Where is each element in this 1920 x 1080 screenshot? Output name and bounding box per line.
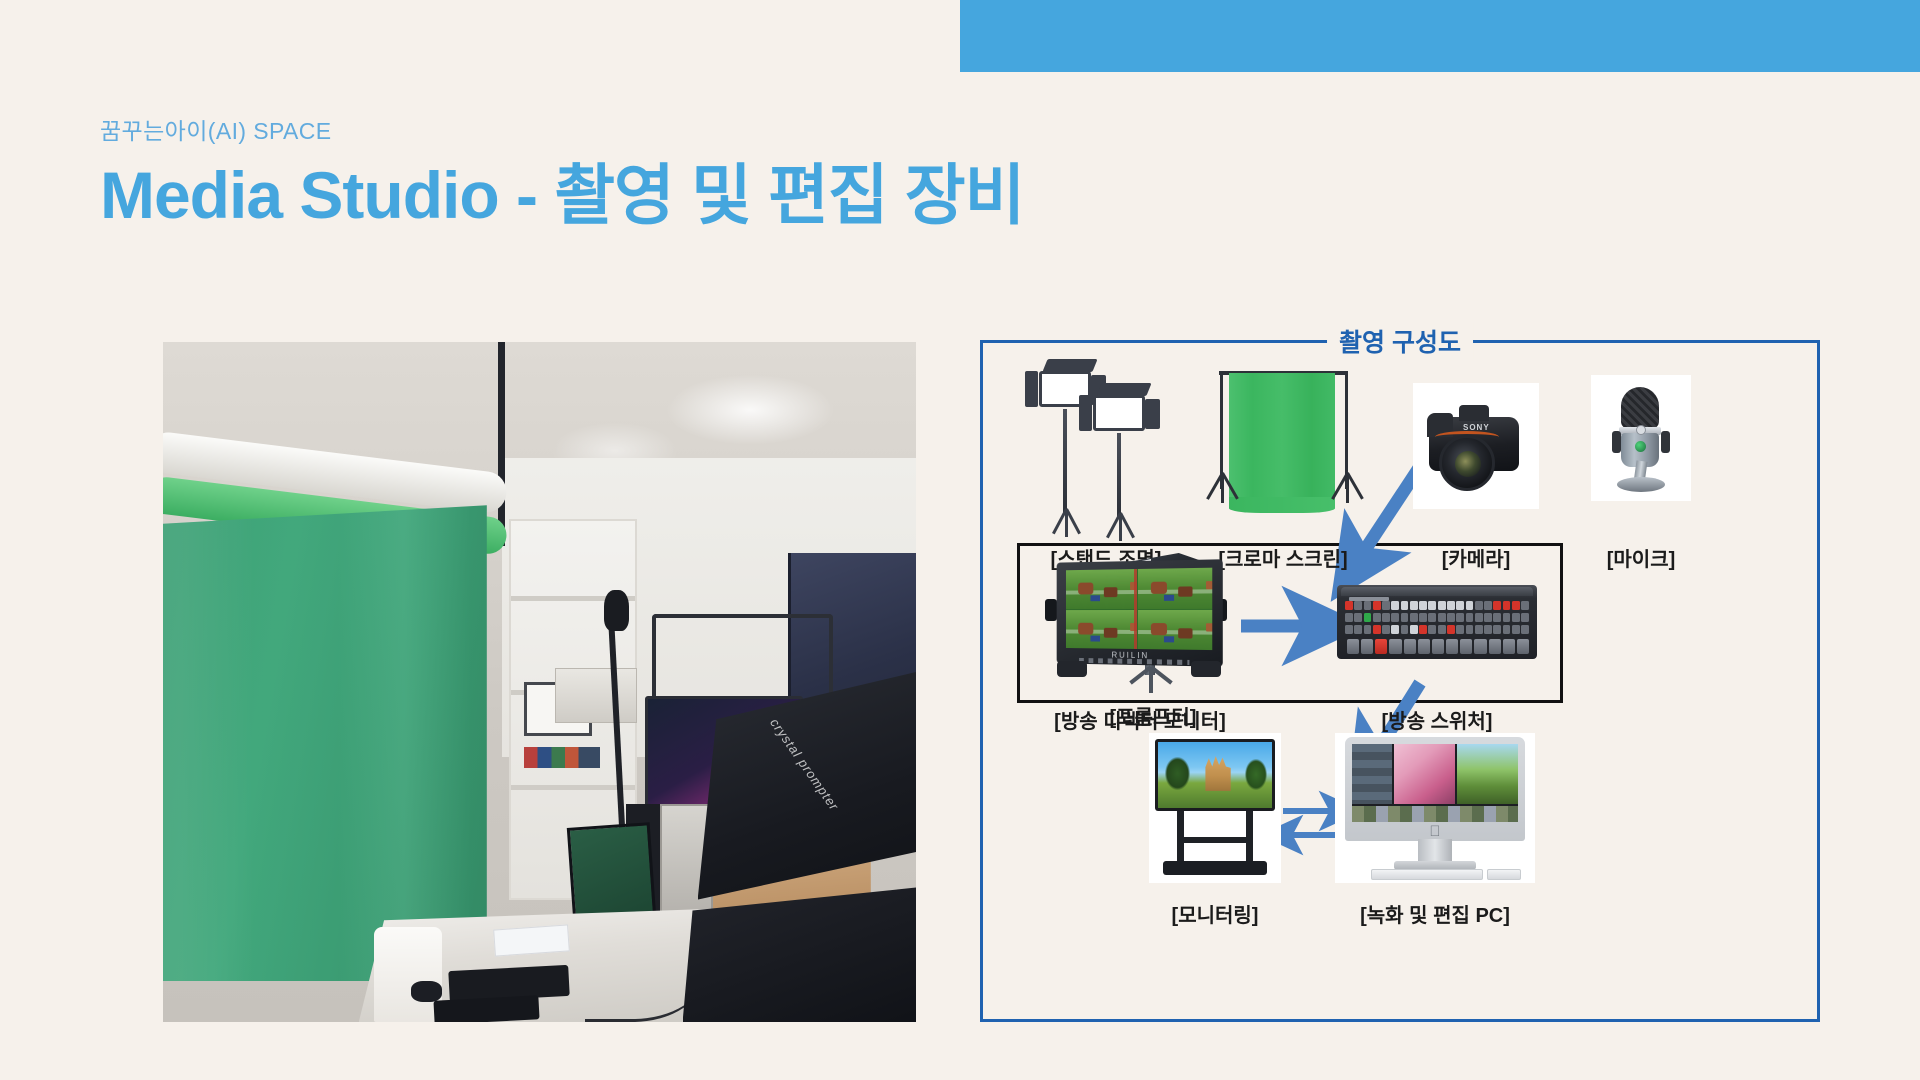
diagram-item-chroma-screen[interactable]: [크로마 스크린] <box>1203 365 1363 530</box>
studio-photo: crystal prompter <box>163 342 916 1022</box>
broadcast-monitor-icon: RUILIN <box>1045 557 1235 687</box>
diagram-label-camera: [카메라] <box>1442 543 1511 572</box>
usb-microphone-icon <box>1591 375 1691 501</box>
diagram-item-stand-light[interactable]: [스탠드 조명] <box>1031 365 1181 530</box>
diagram-label-monitoring: [모니터링] <box>1172 899 1259 928</box>
led-panel-light-icon <box>1031 365 1181 530</box>
studio-photo-image: crystal prompter <box>163 342 916 1022</box>
diagram-label-director-monitor: [방송 디렉터 모니터] <box>1054 705 1226 734</box>
brand-eyebrow: 꿈꾸는아이(AI) SPACE <box>100 118 1300 146</box>
diagram-item-camera[interactable]: SONY [카메라] <box>1413 383 1539 509</box>
diagram-item-microphone[interactable]: [마이크] <box>1591 375 1691 501</box>
diagram-item-monitoring[interactable]: [모니터링] <box>1149 733 1281 883</box>
arrow-camera-to-monitor <box>1355 465 1421 565</box>
diagram-label-microphone: [마이크] <box>1607 543 1676 572</box>
apple-logo-icon:  <box>1429 825 1441 839</box>
diagram-label-edit-pc: [녹화 및 편집 PC] <box>1360 899 1510 928</box>
header-accent-bar <box>960 0 1920 72</box>
page-header: 꿈꾸는아이(AI) SPACE Media Studio - 촬영 및 편집 장… <box>100 118 1300 233</box>
mirrorless-camera-icon: SONY <box>1413 383 1539 509</box>
tv-on-stand-icon <box>1149 733 1281 883</box>
slide-root: 꿈꾸는아이(AI) SPACE Media Studio - 촬영 및 편집 장… <box>0 0 1920 1080</box>
page-title: Media Studio - 촬영 및 편집 장비 <box>100 158 1300 234</box>
green-screen-icon <box>1203 365 1363 530</box>
imac-desktop-icon:  <box>1335 733 1535 883</box>
diagram-item-director-monitor[interactable]: RUILIN [방송 디렉터 모니터] <box>1045 557 1235 687</box>
shooting-diagram-panel: 촬영 구성도 <box>980 340 1820 1022</box>
diagram-label-chroma-screen: [크로마 스크린] <box>1218 543 1347 572</box>
diagram-item-switcher[interactable]: [방송 스위처] <box>1337 579 1537 667</box>
video-switcher-icon <box>1337 579 1537 667</box>
diagram-label-switcher: [방송 스위처] <box>1382 705 1493 734</box>
diagram-item-edit-pc[interactable]:  [녹화 및 편집 PC] <box>1335 733 1535 883</box>
